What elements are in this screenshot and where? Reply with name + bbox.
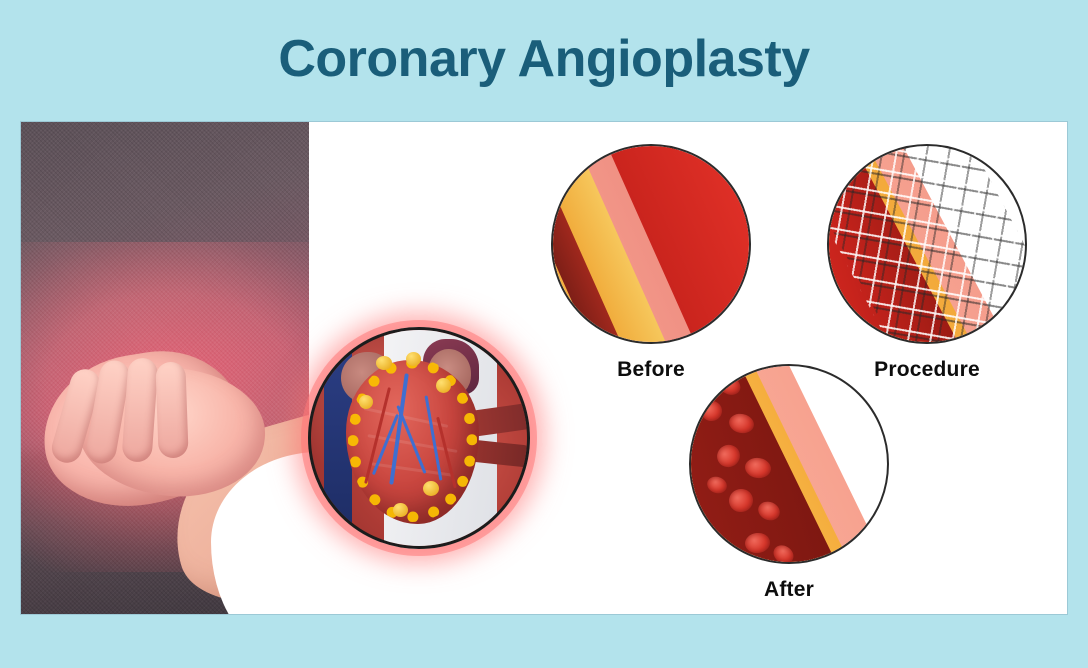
fat-deposit-4 bbox=[359, 395, 373, 409]
after-label: After bbox=[689, 578, 889, 602]
chest-pain-photo bbox=[21, 122, 309, 614]
after-artery-circle bbox=[689, 364, 889, 564]
infographic-page: Coronary Angioplasty bbox=[0, 0, 1088, 668]
page-title: Coronary Angioplasty bbox=[278, 33, 809, 85]
title-bar: Coronary Angioplasty bbox=[0, 0, 1088, 118]
content-card: Before Procedure bbox=[20, 121, 1068, 615]
fat-deposit-2 bbox=[406, 352, 421, 366]
anatomical-heart-illustration bbox=[308, 327, 530, 549]
finger-4 bbox=[155, 362, 188, 459]
before-vessel bbox=[553, 146, 749, 342]
fat-deposit-6 bbox=[393, 503, 408, 517]
after-clip bbox=[691, 366, 887, 562]
before-artery-circle bbox=[551, 144, 751, 344]
procedure-vessel bbox=[829, 146, 1025, 342]
before-clip bbox=[553, 146, 749, 342]
fat-deposit-1 bbox=[376, 356, 392, 370]
after-vessel bbox=[691, 366, 887, 562]
fat-deposit-3 bbox=[436, 378, 451, 393]
procedure-clip bbox=[829, 146, 1025, 342]
procedure-artery-circle bbox=[827, 144, 1027, 344]
